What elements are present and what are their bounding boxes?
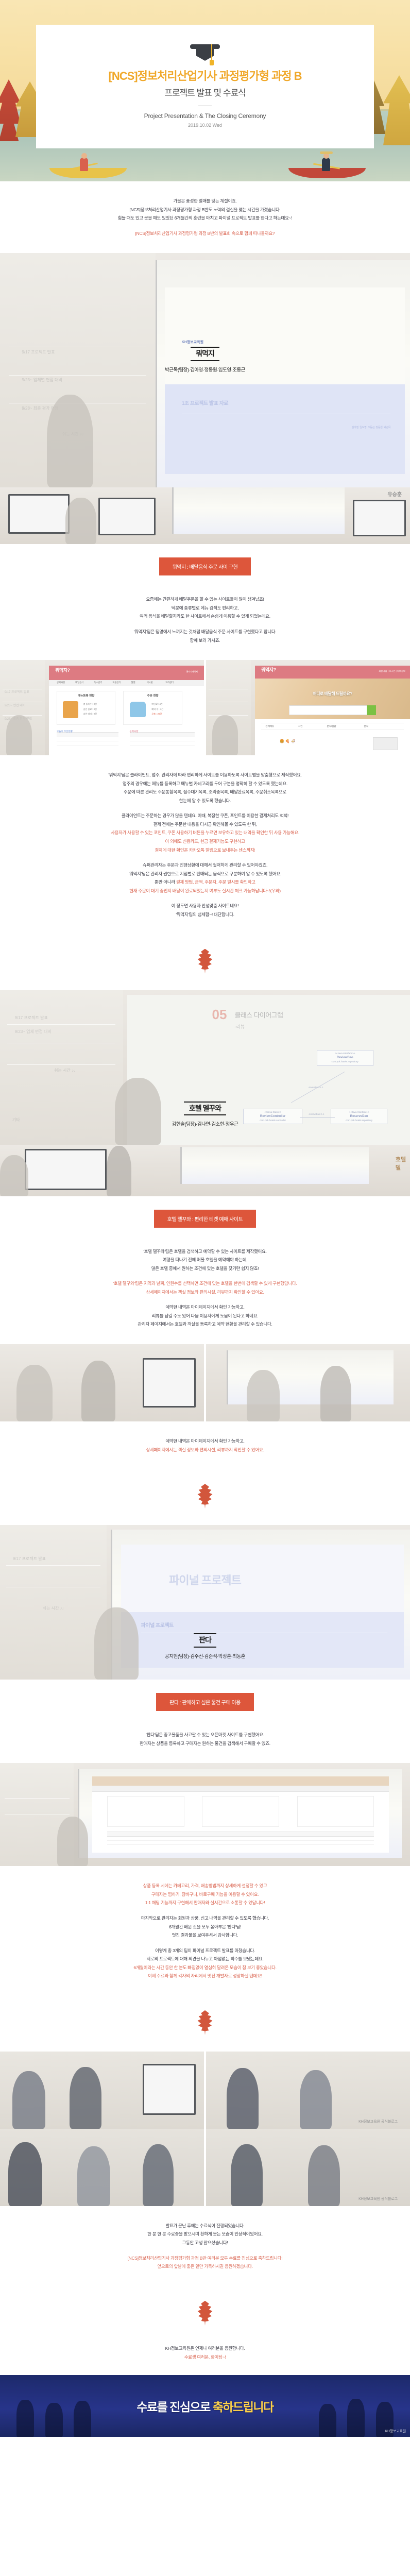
- slide-title: 클래스 다이어그램: [234, 1010, 283, 1020]
- grid-photo-team2-b: [206, 1344, 410, 1421]
- category-item[interactable]: 전체메뉴: [265, 725, 274, 728]
- team3-label-wrap: 판다 : 판매하고 싶은 물건 구매 이용: [0, 1680, 410, 1715]
- photo-team1-audience: 유승훈: [0, 487, 410, 544]
- slide-member-names: 김아영, 임도영, 조동근, 정동원, 박근목: [352, 426, 391, 429]
- ceremony-photo-grid-1: KH정보교육원 공식블로그: [0, 2052, 410, 2129]
- slide-subtitle: -리뷰: [234, 1023, 245, 1030]
- paddler-figure: [77, 150, 91, 171]
- projector-screen: KH정보교육원 1조 프로젝트 발표 자료 김아영, 임도영, 조동근, 정동원…: [156, 260, 410, 487]
- team1-body3: '뭐먹지'팀은 클라이언트, 업주, 관리자에 따라 편리하게 사이트를 이용하…: [0, 755, 410, 934]
- leaf-divider-wrap: [0, 2286, 410, 2342]
- body-line-highlight: [NCS]정보처리산업기사 과정평가형 과정 B반 여러분 모두 수료를 진심으…: [21, 2254, 389, 2263]
- page-subtitle: 프로젝트 발표 및 수료식: [164, 86, 246, 98]
- nav-item[interactable]: 회원관리: [112, 681, 121, 684]
- body-line: 리뷰를 남길 수도 있어 다음 이용자에게 도움이 된다고 하네요.: [21, 1312, 389, 1320]
- leaf-icon: [196, 1484, 214, 1509]
- page-title-english: Project Presentation & The Closing Cerem…: [144, 112, 266, 120]
- body-line: 슈퍼관리자는 주문과 진행상황에 대해서 철저하게 관리할 수 있어야겠죠.: [21, 861, 389, 870]
- team1-label: 뭐먹지 : 배달음식 주문 사이 구현: [159, 557, 251, 575]
- graduation-cap-icon: [190, 42, 220, 65]
- ceremony-text: 발표가 끝난 후에는 수료식이 진행되었습니다. 한 분 한 분 수료증을 받으…: [0, 2206, 410, 2286]
- body-line-highlight: '호텔 델꾸와'팀은 지역과 날짜, 인원수를 선택하면 조건에 맞는 호텔을 …: [21, 1279, 389, 1288]
- body-line: 결제 전에는 주문한 내용을 다시금 확인해볼 수 있도록 한 뒤,: [21, 820, 389, 829]
- team2-members: 김현술(팀장)·김나연·김소현·정우근: [0, 1120, 410, 1127]
- body-line-highlight: 결제 방법, 금액, 주문자, 주문 일시를 확인하고: [176, 879, 255, 885]
- page-title: [NCS]정보처리산업기사 과정평가형 과정 B: [109, 69, 302, 83]
- leaf-icon: [196, 949, 214, 974]
- body-line: 업주의 경우에는 메뉴를 등록하고 메뉴별 카테고리를 두어 구분을 명확히 할…: [21, 779, 389, 788]
- team1-screenshot-grid: 9/17 프로젝트 발표 9/23~ 면접 대비 9/28~ 최종 평가 면접 …: [0, 660, 410, 755]
- grid-photo-admin: 9/17 프로젝트 발표 9/23~ 면접 대비 9/28~ 최종 평가 면접 …: [0, 660, 204, 755]
- banner-text-accent: 축하드립니다: [213, 2400, 274, 2414]
- signature-line: 수료생 여러분, 화이팅~!: [0, 2353, 410, 2362]
- intro-line: 힘들 때도 있고 웃을 때도 있었던 6개월간의 훈련을 마치고 파이널 프로젝…: [21, 214, 389, 223]
- body-line: 6개월간 배운 것을 모두 쏟아부은 '판다'팀!: [21, 1923, 389, 1931]
- body-line: 여러 음식을 배달할지라도 한 사이트에서 손쉽게 이용할 수 있게 되었는데요…: [21, 612, 389, 621]
- body-line: 예약한 내역은 마이페이지에서 확인 가능하고,: [21, 1303, 389, 1312]
- site-slogan: 어디로 배달해 드릴까요?: [255, 691, 410, 697]
- signature-text: KH정보교육원은 언제나 여러분을 응원합니다. 수료생 여러분, 화이팅~!: [0, 2342, 410, 2375]
- card-menu-status: 메뉴등록 현황 총 등록수 : 0건승인 완료 : 0건승인 대기 : 0건: [57, 691, 115, 725]
- photo-team3-screen: [0, 1763, 410, 1866]
- team3-label: 판다 : 판매하고 싶은 물건 구매 이용: [156, 1693, 254, 1711]
- body-line: 함께 보러 가시죠.: [21, 636, 389, 645]
- body-line: 이 정도면 사용자 안성맞춤 사이트네요!: [21, 902, 389, 910]
- nav-item[interactable]: 독스관리: [94, 681, 102, 684]
- leaf-divider-wrap: [0, 1996, 410, 2052]
- body-line: 발표가 끝난 후에는 수료식이 진행되었습니다.: [21, 2222, 389, 2230]
- site-logo: 뭐먹지?: [55, 667, 70, 673]
- body-line-highlight: 1:1 채팅 기능까지 구현해서 판매자와 실시간으로 소통할 수 있답니다!: [21, 1899, 389, 1907]
- category-item[interactable]: 분식/김밥: [327, 725, 336, 728]
- body-line-highlight: 이제 수료와 함께 각자의 자리에서 멋진 개발자로 성장하실 텐데요!: [21, 1972, 389, 1980]
- login-link[interactable]: 로그인: [389, 670, 395, 672]
- slide-team1-title: KH정보교육원 1조 프로젝트 발표 자료 김아영, 임도영, 조동근, 정동원…: [165, 287, 405, 474]
- body-line: '뭐먹지'팀은 팀명에서 느껴지는 것처럼 배달음식 주문 사이트를 구현했다고…: [21, 628, 389, 636]
- team2-extra-text: 예약한 내역은 마이페이지에서 확인 가능하고, 상세페이지에서는 객실 정보와…: [0, 1421, 410, 1469]
- ceremony-photo-b: KH정보교육원 공식블로그: [206, 2052, 410, 2129]
- team2-label-wrap: 호텔 델꾸와 : 편리한 티켓 예매 사이트: [0, 1196, 410, 1232]
- presenter-silhouette: [47, 395, 93, 487]
- banner-watermark: KH정보교육원: [385, 2429, 406, 2434]
- body-line-highlight: 결제에 대한 확인은 카카오톡 알림으로 보내주는 센스까지!: [21, 846, 389, 855]
- body-line: 뿐만 아니라: [155, 879, 176, 885]
- team2-label: 호텔 델꾸와 : 편리한 티켓 예매 사이트: [154, 1210, 256, 1228]
- body-line-highlight: 앞으로의 앞날에 좋은 일만 가득하시길 응원하겠습니다.: [21, 2262, 389, 2271]
- body-line: 관리자 페이지에서는 호텔과 객실을 등록하고 예약 현황을 관리할 수 있습니…: [21, 1320, 389, 1329]
- team3-body1: '판다'팀은 중고물품을 사고팔 수 있는 오픈마켓 사이트를 구현했어요. 판…: [0, 1715, 410, 1763]
- body-line: 서로의 프로젝트에 대해 의견을 나누고 아낌없는 박수를 보냈는데요.: [21, 1955, 389, 1963]
- body-line: 멋진 결과물을 보여주셔서 감사합니다.: [21, 1931, 389, 1940]
- blog-post-page: [NCS]정보처리산업기사 과정평가형 과정 B 프로젝트 발표 및 수료식 P…: [0, 0, 410, 2442]
- team2-name: 호텔 델꾸와: [184, 1101, 226, 1115]
- body-line: 한눈에 알 수 있도록 했습니다.: [21, 796, 389, 805]
- body-line: 한 분 한 분 수료증을 받으시며 환하게 웃는 모습이 인상적이었어요.: [21, 2230, 389, 2239]
- event-date: 2019.10.02 Wed: [188, 123, 222, 128]
- banner-text-pre: 수료를 진심으로: [136, 2400, 212, 2414]
- banner-text: 수료를 진심으로 축하드립니다: [136, 2397, 273, 2415]
- card-order-status: 주문 현황 미완료 : 4건예약 수 : 4건오늘 : 26건: [123, 691, 182, 725]
- body-line: '뭐먹지'팀은 클라이언트, 업주, 관리자에 따라 편리하게 사이트를 이용하…: [21, 771, 389, 779]
- grid-photo-team2-a: [0, 1344, 204, 1421]
- body-line: 판매자는 상품을 등록하고 구매자는 원하는 물건을 검색해서 구매할 수 있죠…: [21, 1739, 389, 1748]
- body-line: 주문에 따른 관리도 주문통합목록, 접수대기목록, 조리중목록, 배달완료목록…: [21, 788, 389, 796]
- slide-kicker: 1조 프로젝트 발표 자료: [182, 399, 228, 406]
- team3-members: 공지현(팀장)·김주선·김준석·박상훈·최동훈: [0, 1652, 410, 1659]
- body-line: 그동안 고생 많으셨습니다!: [21, 2239, 389, 2247]
- leaf-icon: [196, 2010, 214, 2035]
- site-admin-dashboard: 뭐먹지? 관리자페이지 공지사항 배달음식 독스관리 회원관리 월별 게시판 고…: [49, 666, 204, 755]
- intro-line: [NCS]정보처리산업기사 과정평가형 과정 B반도 노력의 결실을 맺는 시간…: [21, 206, 389, 214]
- body-line: 이렇게 총 3개의 팀이 파이널 프로젝트 발표를 마쳤습니다.: [21, 1946, 389, 1955]
- nav-item[interactable]: 공지사항: [57, 681, 65, 684]
- card-title: 메뉴등록 현황: [57, 693, 115, 698]
- team2-body: '호텔 델꾸와'팀은 호텔을 검색하고 예약할 수 있는 사이트를 제작했어요.…: [0, 1232, 410, 1345]
- body-line: '뭐먹지'팀의 섬세함~! 대단합니다.: [21, 910, 389, 919]
- body-line-highlight: 상품 등록 시에는 카테고리, 가격, 배송방법까지 상세하게 설정할 수 있고: [21, 1882, 389, 1890]
- category-item[interactable]: 치킨: [298, 725, 302, 728]
- ceremony-photo-grid-2: KH정보교육원 공식블로그: [0, 2129, 410, 2206]
- team2-photo-grid: [0, 1344, 410, 1421]
- diagram-node-reviewdao: <<Java Interface>> ReviewDao com.pck.hot…: [317, 1050, 373, 1066]
- body-line: 요즘에는 간편하게 배달주문을 할 수 있는 사이트들이 많이 생겨났죠!: [21, 595, 389, 604]
- divider: [198, 106, 212, 106]
- leaf-icon: [196, 2301, 214, 2326]
- photo-team2-audience: 호텔델: [0, 1145, 410, 1196]
- nav-item[interactable]: 고객센터: [165, 681, 174, 684]
- team1-members: 박근목(팀장)·김아영·정동원·임도영·조동근: [0, 366, 410, 373]
- body-line-highlight: 6개월이라는 시간 동안 한 분도 빠짐없이 열심히 달려온 모습이 참 보기 …: [21, 1963, 389, 1972]
- body-line-highlight: 이 외에도 신용카드, 현금 결제기능도 구현하고: [21, 837, 389, 846]
- ceremony-photo-d: KH정보교육원 공식블로그: [206, 2129, 410, 2206]
- nav-item[interactable]: 게시판: [147, 681, 153, 684]
- signature-line: KH정보교육원은 언제나 여러분을 응원합니다.: [0, 2344, 410, 2353]
- body-line: 클라이언트는 주문하는 경우가 많을 텐데요. 이때, 복잡한 쿠폰, 포인트를…: [21, 811, 389, 820]
- grid-photo-main: 뭐먹지? 회원가입 | 로그인 | 나의정보 어디로 배달해 드릴까요? 전체메…: [206, 660, 410, 755]
- nav-item[interactable]: 월별: [131, 681, 135, 684]
- body-line: '뭐먹지'팀은 관리자 권한으로 지점별로 판매되는 음식으로 구분하여 알 수…: [21, 870, 389, 878]
- hero-banner: [NCS]정보처리산업기사 과정평가형 과정 B 프로젝트 발표 및 수료식 P…: [0, 0, 410, 181]
- team3-name: 판다: [194, 1633, 216, 1647]
- intro-highlight: [NCS]정보처리산업기사 과정평가형 과정 B반의 발표회 속으로 함께 떠나…: [21, 229, 389, 238]
- body-line: 예약한 내역은 마이페이지에서 확인 가능하고,: [21, 1437, 389, 1446]
- team1-label-wrap: 뭐먹지 : 배달음식 주문 사이 구현: [0, 544, 410, 580]
- leaf-divider-wrap: [0, 1469, 410, 1525]
- body-line-highlight: 사용자가 사용할 수 있는 포인트, 쿠폰 사용하기 버튼을 누르면 보유하고 …: [21, 828, 389, 837]
- paddler-figure: [319, 150, 333, 171]
- body-line-highlight: 상세페이지에서는 객실 정보와 편의시설, 리뷰까지 확인할 수 있어요.: [21, 1446, 389, 1454]
- hero-card: [NCS]정보처리산업기사 과정평가형 과정 B 프로젝트 발표 및 수료식 P…: [36, 25, 374, 148]
- slide-number: 05: [212, 1007, 227, 1023]
- body-line: 많은 호텔 중에서 원하는 조건에 맞는 호텔을 찾기란 쉽지 않죠!: [21, 1264, 389, 1273]
- intro-line: 가을은 풍성한 열매를 맺는 계절이죠.: [21, 197, 389, 206]
- body-line: '판다'팀은 중고물품을 사고팔 수 있는 오픈마켓 사이트를 구현했어요.: [21, 1731, 389, 1739]
- closing-banner: 수료를 진심으로 축하드립니다 KH정보교육원: [0, 2375, 410, 2437]
- team3-caption: 판다 공지현(팀장)·김주선·김준석·박상훈·최동훈: [0, 1633, 410, 1659]
- kh-logo: KH정보교육원: [182, 340, 203, 345]
- team1-name: 뭐먹지: [191, 347, 219, 361]
- signup-link[interactable]: 회원가입: [379, 670, 387, 672]
- body-line-highlight: 현재 주문이 대기 중인지 배달이 완료되었는지 여부도 실시간 체크 가능하답…: [21, 887, 389, 895]
- site-logo: 뭐먹지?: [261, 666, 276, 673]
- team1-caption: 뭐먹지 박근목(팀장)·김아영·정동원·임도영·조동근: [0, 347, 410, 372]
- nav-item[interactable]: 배달음식: [75, 681, 83, 684]
- photo-team3-presentation: 9/17 프로젝트 발표 쉬는 시간 ♪♩ 파이널 프로젝트 파이널 프로젝트 …: [0, 1525, 410, 1680]
- team1-body1: 요즘에는 간편하게 배달주문을 할 수 있는 사이트들이 많이 생겨났죠! 덕분…: [0, 580, 410, 660]
- body-line-highlight: 상세페이지에서는 객실 정보와 편의시설, 리뷰까지 확인할 수 있어요.: [21, 1288, 389, 1297]
- projector-screen: [78, 1769, 402, 1858]
- search-button[interactable]: [367, 705, 376, 715]
- category-item[interactable]: 한식: [364, 725, 368, 728]
- ceremony-photo-a: [0, 2052, 204, 2129]
- photo-watermark: KH정보교육원 공식블로그: [358, 2119, 398, 2124]
- body-line: 여행을 떠나기 전에 머물 호텔을 예약해야 하는데,: [21, 1256, 389, 1264]
- leaf-divider-wrap: [0, 935, 410, 990]
- body-line: 마지막으로 관리자는 회원과 상품, 신고 내역을 관리할 수 있도록 했습니다…: [21, 1914, 389, 1923]
- site-main-page: 뭐먹지? 회원가입 | 로그인 | 나의정보 어디로 배달해 드릴까요? 전체메…: [255, 666, 410, 755]
- team3-body2: 상품 등록 시에는 카테고리, 가격, 배송방법까지 상세하게 설정할 수 있고…: [0, 1866, 410, 1996]
- body-line: '호텔 델꾸와'팀은 호텔을 검색하고 예약할 수 있는 사이트를 제작했어요.: [21, 1247, 389, 1256]
- photo-team1-presentation: 9/17 프로젝트 발표 9/23~ 업체별 면접 대비 9/28~ 최종 평가…: [0, 253, 410, 487]
- body-line-highlight: 구매자는 찜하기, 장바구니, 바로구매 기능을 이용할 수 있어요.: [21, 1890, 389, 1899]
- body-line: 덕분에 종류별로 메뉴 검색도 편리하고,: [21, 604, 389, 613]
- team2-caption: 호텔 델꾸와 김현술(팀장)·김나연·김소현·정우근: [0, 1101, 410, 1127]
- photo-watermark: KH정보교육원 공식블로그: [358, 2196, 398, 2201]
- intro-text: 가을은 풍성한 열매를 맺는 계절이죠. [NCS]정보처리산업기사 과정평가형…: [0, 181, 410, 253]
- ceremony-photo-c: [0, 2129, 204, 2206]
- mypage-link[interactable]: 나의정보: [397, 670, 405, 672]
- photo-team2-presentation: 9/17 프로젝트 발표 9/23~ 업체 면접 대비 쉬는 시간 ♪♩ 기타 …: [0, 990, 410, 1145]
- card-title: 주문 현황: [124, 693, 181, 698]
